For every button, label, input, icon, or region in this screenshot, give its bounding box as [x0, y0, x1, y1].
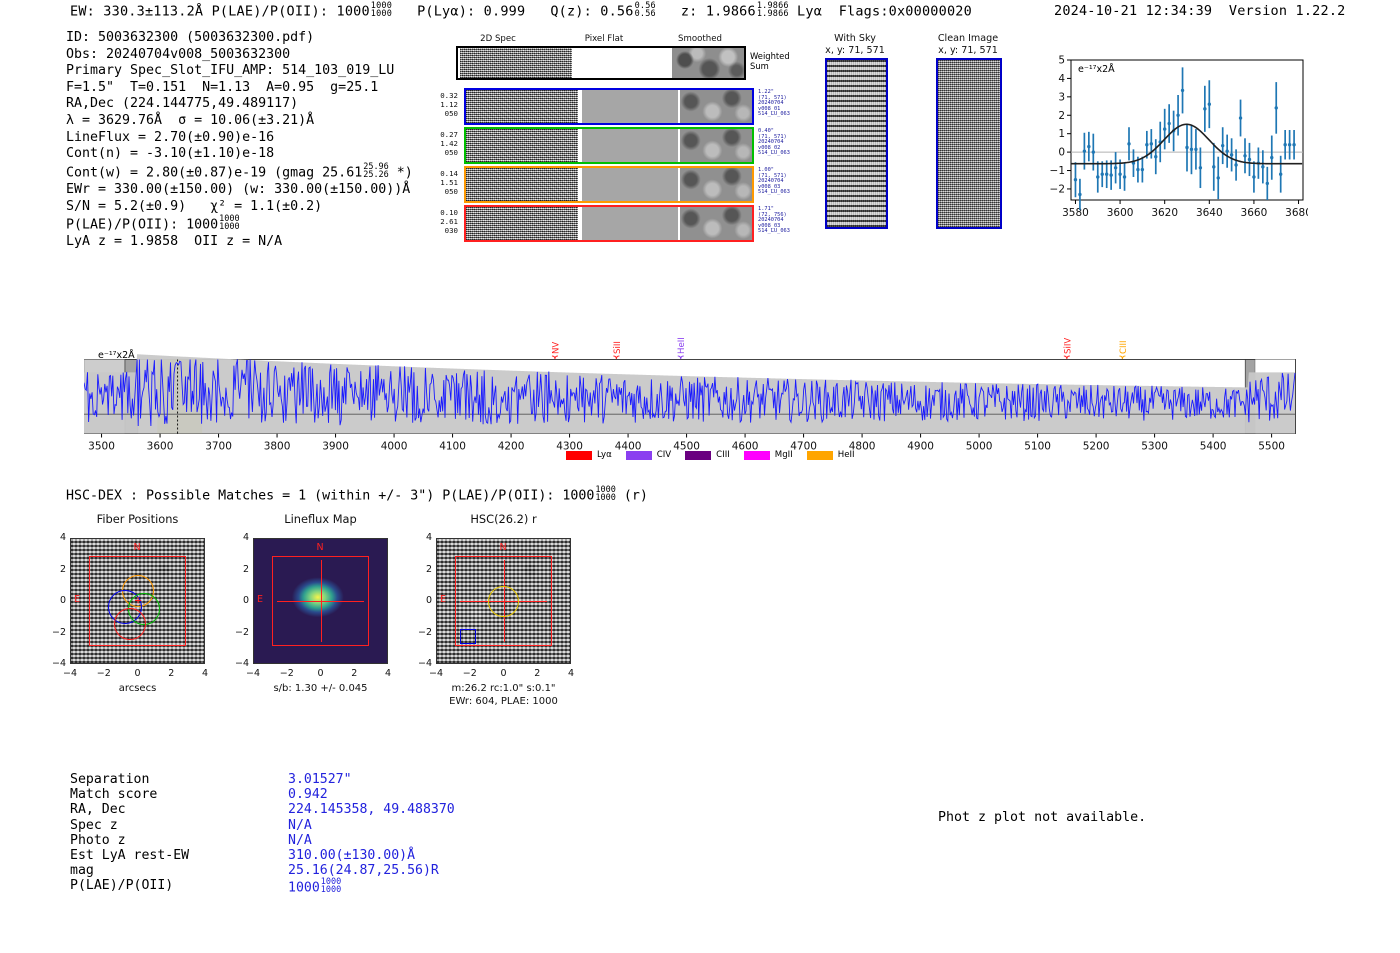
fiber-pixelflat	[582, 168, 678, 201]
table-row-value: 0.942	[288, 787, 328, 802]
panel-x-tick: 2	[345, 668, 363, 679]
panel-x-tick: −4	[244, 668, 262, 679]
legend-entry: Lyα	[566, 451, 612, 461]
svg-text:4100: 4100	[439, 441, 466, 453]
panel-y-tick: −2	[414, 627, 432, 638]
legend-label: CIV	[657, 450, 671, 460]
panel-x-tick: −2	[95, 668, 113, 679]
panel-caption-secondary: EWr: 604, PLAE: 1000	[408, 695, 599, 708]
panel-x-tick: −2	[461, 668, 479, 679]
legend-swatch	[744, 451, 770, 460]
fiber-2dspec	[466, 129, 578, 162]
panel-y-tick: 0	[231, 595, 249, 606]
svg-text:3620: 3620	[1151, 207, 1178, 219]
svg-text:4900: 4900	[907, 441, 934, 453]
col-title-smoothed: Smoothed	[660, 34, 740, 44]
svg-text:HeII: HeII	[677, 337, 687, 354]
panel-y-tick: −4	[48, 658, 66, 669]
legend-swatch	[807, 451, 833, 460]
cutout-clean-image	[936, 58, 1002, 229]
fiber-strip	[464, 166, 754, 203]
weighted-sum-strip	[456, 46, 746, 80]
svg-text:3500: 3500	[88, 441, 115, 453]
table-row-key: RA, Dec	[70, 802, 126, 817]
fiber-left-value: 1.42	[432, 139, 458, 148]
fit-plot-flux-units: e⁻¹⁷x2Å	[1078, 64, 1115, 75]
legend-label: MgII	[775, 450, 793, 460]
table-row-value: 100010001000	[288, 878, 341, 896]
panel-y-tick: 0	[414, 595, 432, 606]
svg-text:3: 3	[1058, 91, 1065, 103]
svg-text:5100: 5100	[1024, 441, 1051, 453]
svg-text:2: 2	[1058, 110, 1065, 122]
header-redshift: z: 1.9866	[681, 4, 756, 20]
table-row-value: 25.16(24.87,25.56)R	[288, 863, 439, 878]
panel-x-tick: 2	[528, 668, 546, 679]
table-row-key: Spec z	[70, 818, 118, 833]
full-spectrum-svg: NVSiIIHeIISiIVCIIICIICIIICIVOIIHeIICIIMg…	[84, 318, 1300, 468]
info-lambda-sigma: λ = 3629.76Å σ = 10.06(±3.21)Å	[66, 113, 413, 130]
table-row-key: Est LyA rest-EW	[70, 848, 189, 863]
fiber-smoothed	[680, 207, 752, 240]
fiber-left-value: 050	[432, 109, 458, 118]
legend-label: HeII	[838, 450, 855, 460]
header-plya: P(Lyα): 0.999	[417, 4, 525, 20]
panel-caption: arcsecs	[42, 682, 233, 695]
legend-entry: HeII	[807, 451, 855, 461]
crosshair-vertical	[321, 560, 322, 642]
panel-x-tick: 0	[312, 668, 330, 679]
fiber-metadata-label: 1.22" (71, 571) 20240704 v008_01 514_LU_…	[758, 90, 790, 118]
full-spectrum-panel: e⁻¹⁷x2Å NVSiIIHeIISiIVCIIICIICIIICIVOIIH…	[84, 318, 1300, 468]
panel-y-tick: −2	[48, 627, 66, 638]
panel-y-tick: −4	[414, 658, 432, 669]
header-qz: Q(z): 0.56	[550, 4, 633, 20]
compass-north: N	[317, 542, 324, 553]
info-id: ID: 5003632300 (5003632300.pdf)	[66, 30, 413, 47]
svg-text:3640: 3640	[1196, 207, 1223, 219]
info-cont-w: Cont(w) = 2.80(±0.87)e-19 (gmag 25.6125.…	[66, 163, 413, 182]
svg-text:5000: 5000	[966, 441, 993, 453]
svg-text:3580: 3580	[1062, 207, 1089, 219]
fiber-left-value: 1.51	[432, 178, 458, 187]
svg-text:3680: 3680	[1285, 207, 1308, 219]
panel-x-tick: −4	[61, 668, 79, 679]
svg-text:CIII: CIII	[1119, 340, 1129, 354]
panel-x-tick: −2	[278, 668, 296, 679]
header-qz-fraction: 0.560.56	[635, 2, 656, 18]
fiber-strip	[464, 88, 754, 125]
panel-x-tick: 4	[562, 668, 580, 679]
fiber-left-value: 030	[432, 226, 458, 235]
panel-y-tick: 4	[48, 532, 66, 543]
fiber-left-value: 050	[432, 187, 458, 196]
table-row-value: 310.00(±130.00)Å	[288, 848, 415, 863]
fiber-pixelflat	[582, 207, 678, 240]
cutout-with-sky-title: With Skyx, y: 71, 571	[812, 33, 898, 57]
svg-text:−2: −2	[1050, 183, 1065, 195]
svg-text:NV: NV	[551, 342, 561, 354]
cutout-clean-image-title: Clean Imagex, y: 71, 571	[920, 33, 1016, 57]
svg-text:SiIV: SiIV	[1063, 338, 1073, 354]
info-sn-chi2: S/N = 5.2(±0.9) χ² = 1.1(±0.2)	[66, 199, 413, 216]
fiber-2dspec	[466, 90, 578, 123]
photz-unavailable-note: Phot z plot not available.	[938, 810, 1146, 825]
panel-y-tick: 2	[48, 564, 66, 575]
fit-plot-x-ticks: 358036003620364036603680	[1062, 200, 1308, 219]
svg-text:5: 5	[1058, 55, 1065, 67]
cutout-panel-row: Fiber PositionsNE+−4−2024420−2−4arcsecsL…	[60, 508, 620, 723]
svg-text:3700: 3700	[205, 441, 232, 453]
legend-swatch	[566, 451, 592, 460]
weighted-sum-label: Weighted Sum	[750, 52, 790, 71]
timestamp: 2024-10-21 12:34:39	[1054, 3, 1212, 19]
fit-plot-y-ticks: −2−1012345	[1050, 55, 1071, 195]
info-obs: Obs: 20240704v008_5003632300	[66, 47, 413, 64]
spectrum-legend: LyαCIVCIIIMgIIHeII	[566, 450, 869, 461]
header-flags: Flags:0x00000020	[839, 4, 972, 20]
legend-entry: CIV	[626, 451, 671, 461]
table-row-value: N/A	[288, 833, 312, 848]
fiber-left-value: 1.12	[432, 100, 458, 109]
table-row-value: 224.145358, 49.488370	[288, 802, 455, 817]
fiber-smoothed	[680, 90, 752, 123]
panel-caption: s/b: 1.30 +/- 0.045	[225, 682, 416, 695]
compass-east: E	[257, 594, 263, 605]
emission-line-fit-plot: −2−1012345 358036003620364036603680 e⁻¹⁷…	[1036, 55, 1308, 226]
legend-swatch	[626, 451, 652, 460]
legend-label: Lyα	[597, 450, 612, 460]
legend-label: CIII	[716, 450, 730, 460]
svg-text:1: 1	[1058, 128, 1065, 140]
svg-text:5400: 5400	[1200, 441, 1227, 453]
table-row-key: P(LAE)/P(OII)	[70, 878, 173, 893]
fiber-metadata-label: 1.00" (71, 571) 20240704 v008_03 514_LU_…	[758, 168, 790, 196]
header-z-tag: Lyα	[797, 4, 822, 20]
col-title-2dspec: 2D Spec	[458, 34, 538, 44]
hscdex-plae-fraction: 10001000	[595, 486, 615, 502]
fiber-pixelflat	[582, 129, 678, 162]
fiber-strip-stack: 0.321.120501.22" (71, 571) 20240704 v008…	[432, 88, 772, 246]
weighted-sum-smoothed	[672, 48, 744, 78]
fiber-left-value: 0.27	[432, 130, 458, 139]
header-z-fraction: 1.98661.9866	[757, 2, 789, 18]
panel-title: HSC(26.2) r	[416, 512, 591, 526]
compass-north: N	[134, 542, 141, 553]
svg-text:SiII: SiII	[613, 341, 623, 354]
svg-text:5200: 5200	[1083, 441, 1110, 453]
panel-x-tick: 0	[129, 668, 147, 679]
svg-text:0: 0	[1058, 147, 1065, 159]
panel-x-tick: −4	[427, 668, 445, 679]
fiber-2dspec	[466, 207, 578, 240]
fiber-smoothed	[680, 129, 752, 162]
fiber-metadata-label: 0.40" (71, 571) 20240704 v008_02 514_LU_…	[758, 129, 790, 157]
legend-entry: MgII	[744, 451, 793, 461]
info-radec: RA,Dec (224.144775,49.489117)	[66, 96, 413, 113]
svg-text:4: 4	[1058, 73, 1065, 85]
fit-plot-svg: −2−1012345 358036003620364036603680	[1036, 55, 1308, 226]
table-row-value: N/A	[288, 818, 312, 833]
compass-east: E	[440, 594, 446, 605]
weighted-sum-2dspec	[460, 48, 572, 78]
legend-swatch	[685, 451, 711, 460]
panel-x-tick: 4	[196, 668, 214, 679]
panel-x-tick: 4	[379, 668, 397, 679]
panel-y-tick: 4	[231, 532, 249, 543]
fiber-left-value: 2.61	[432, 217, 458, 226]
fiber-left-value: 0.10	[432, 208, 458, 217]
svg-text:4200: 4200	[498, 441, 525, 453]
col-title-pixelflat: Pixel Flat	[564, 34, 644, 44]
fiber-left-value: 050	[432, 148, 458, 157]
panel-x-tick: 0	[495, 668, 513, 679]
svg-text:3660: 3660	[1241, 207, 1268, 219]
legend-entry: CIII	[685, 451, 730, 461]
panel-y-tick: −4	[231, 658, 249, 669]
svg-text:5300: 5300	[1141, 441, 1168, 453]
info-primary-spec: Primary Spec_Slot_IFU_AMP: 514_103_019_L…	[66, 63, 413, 80]
fiber-metadata-label: 1.71" (72, 756) 20240704 v008_03 514_LU_…	[758, 207, 790, 235]
gmag-fraction: 25.9625.26	[363, 163, 389, 179]
source-info-block: ID: 5003632300 (5003632300.pdf) Obs: 202…	[66, 30, 413, 251]
panel-y-tick: 2	[414, 564, 432, 575]
hscdex-headline: HSC-DEX : Possible Matches = 1 (within +…	[66, 486, 648, 504]
info-ewr: EWr = 330.00(±150.00) (w: 330.00(±150.00…	[66, 182, 413, 199]
table-row-key: mag	[70, 863, 94, 878]
fiber-left-value: 0.32	[432, 91, 458, 100]
cutout-with-sky-image	[825, 58, 888, 229]
info-seeing: F=1.5" T=0.151 N=1.13 A=0.95 g=25.1	[66, 80, 413, 97]
panel-x-tick: 2	[162, 668, 180, 679]
hsc-aperture-circle	[488, 586, 519, 617]
table-row-key: Match score	[70, 787, 157, 802]
fiber-2dspec	[466, 168, 578, 201]
fiber-strip	[464, 127, 754, 164]
version-label: Version 1.22.2	[1229, 3, 1346, 19]
fiber-smoothed	[680, 168, 752, 201]
table-row-key: Separation	[70, 772, 149, 787]
fiber-pixelflat	[582, 90, 678, 123]
info-lineflux: LineFlux = 2.70(±0.90)e-16	[66, 130, 413, 147]
header-summary-line: EW: 330.3±113.2Å P(LAE)/P(OII): 10001000…	[70, 2, 972, 20]
header-plae-fraction: 10001000	[371, 2, 392, 18]
info-cont-n: Cont(n) = -3.10(±1.10)e-18	[66, 146, 413, 163]
info-redshifts: LyA z = 1.9858 OII z = N/A	[66, 234, 413, 251]
svg-text:3600: 3600	[147, 441, 174, 453]
svg-text:3600: 3600	[1107, 207, 1134, 219]
fiber-left-value: 0.14	[432, 169, 458, 178]
panel-y-tick: 2	[231, 564, 249, 575]
table-row-value: 3.01527"	[288, 772, 352, 787]
svg-text:5500: 5500	[1258, 441, 1285, 453]
fiber-aperture-circle	[114, 608, 146, 640]
panel-caption: m:26.2 rc:1.0" s:0.1"	[408, 682, 599, 695]
table-row-key: Photo z	[70, 833, 126, 848]
target-marker: +	[135, 593, 142, 607]
spectrum-line-markers: NVSiIIHeIISiIVCIIICIICIIICIVOIIHeIICIIMg…	[551, 336, 1300, 359]
panel-y-tick: 4	[414, 532, 432, 543]
header-ew: EW: 330.3±113.2Å P(LAE)/P(OII): 1000	[70, 4, 370, 20]
compass-east: E	[74, 594, 80, 605]
weighted-sum-pixelflat	[574, 48, 670, 78]
info-plae-fraction: 10001000	[219, 215, 239, 231]
fiber-strip	[464, 205, 754, 242]
svg-text:4000: 4000	[381, 441, 408, 453]
panel-title: Lineflux Map	[233, 512, 408, 526]
info-plae: P(LAE)/P(OII): 100010001000	[66, 215, 413, 234]
spectrum-flux-units: e⁻¹⁷x2Å	[98, 350, 135, 361]
svg-text:3900: 3900	[322, 441, 349, 453]
header-timestamp-block: 2024-10-21 12:34:39 Version 1.22.2	[1054, 3, 1345, 19]
panel-y-tick: −2	[231, 627, 249, 638]
panel-title: Fiber Positions	[50, 512, 225, 526]
panel-y-tick: 0	[48, 595, 66, 606]
compass-north: N	[500, 542, 507, 553]
hsc-catalog-marker	[460, 629, 476, 644]
table-plae-fraction: 10001000	[321, 878, 341, 894]
svg-text:−1: −1	[1050, 165, 1065, 177]
svg-text:3800: 3800	[264, 441, 291, 453]
